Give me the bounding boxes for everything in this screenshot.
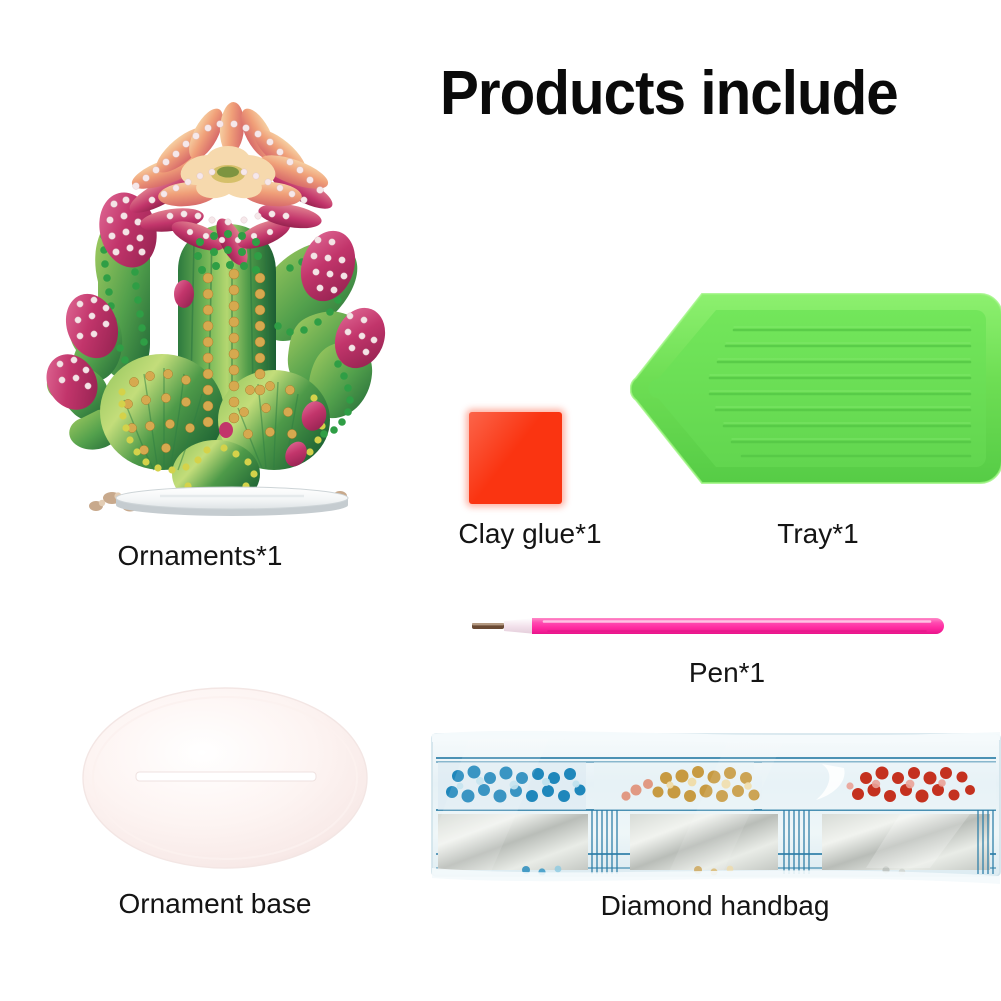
acrylic-stand-disc-icon bbox=[112, 484, 352, 520]
caption-ornament-base: Ornament base bbox=[15, 888, 415, 920]
ornament-base-icon bbox=[80, 684, 370, 872]
diamond-handbag-icon bbox=[430, 718, 1001, 892]
diamond-painting-pen-icon bbox=[468, 612, 946, 640]
caption-diamond-handbag: Diamond handbag bbox=[515, 890, 915, 922]
cactus-ornament-icon bbox=[38, 82, 394, 532]
caption-pen: Pen*1 bbox=[527, 657, 927, 689]
clay-glue-icon bbox=[469, 412, 562, 504]
product-contents-graphic: Products include bbox=[0, 0, 1001, 1001]
page-title: Products include bbox=[440, 58, 966, 130]
caption-tray: Tray*1 bbox=[618, 518, 1001, 550]
drill-tray-icon bbox=[630, 290, 1001, 487]
clay-glue-highlight bbox=[469, 412, 562, 504]
